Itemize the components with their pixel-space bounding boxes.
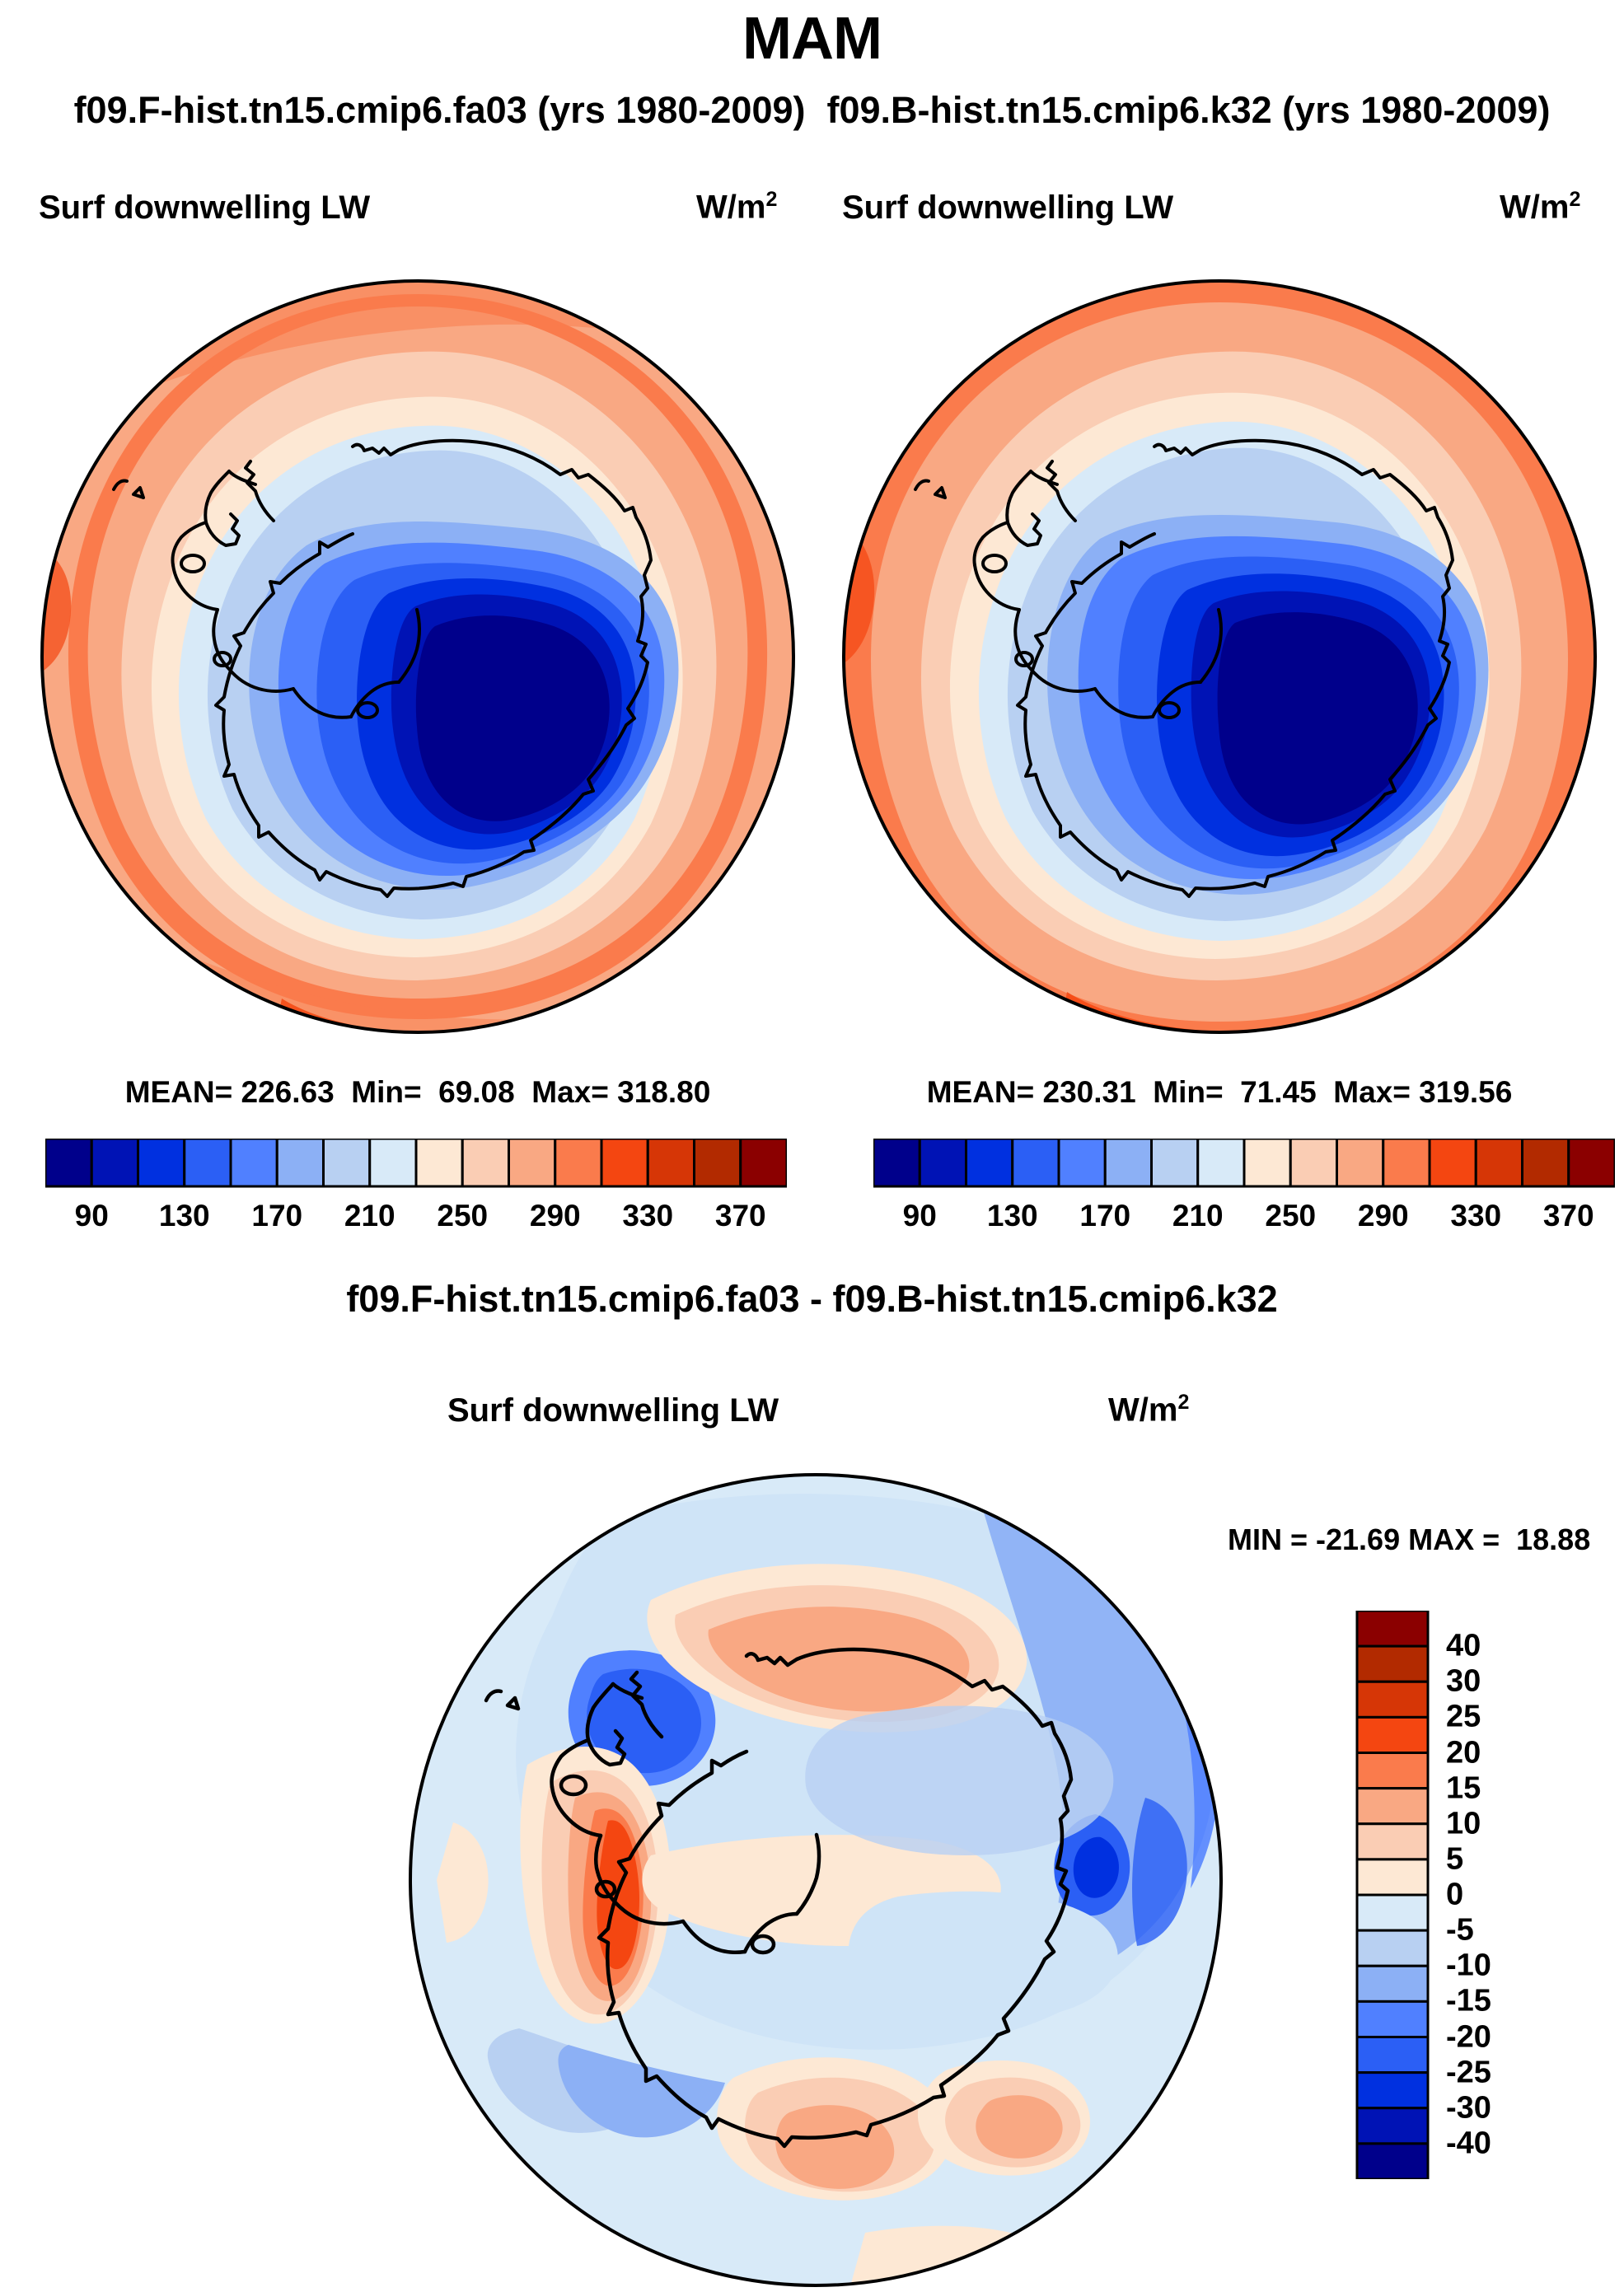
right-tick-0: 90 bbox=[903, 1199, 937, 1233]
left-tick-0: 90 bbox=[75, 1199, 109, 1233]
diff-colorbar-cells bbox=[1357, 1611, 1428, 2179]
diff-tick-14: -40 bbox=[1446, 2126, 1491, 2161]
right-polar-map bbox=[836, 274, 1603, 1040]
diff-tick-7: 0 bbox=[1446, 1878, 1463, 1913]
left-tick-7: 370 bbox=[715, 1199, 766, 1233]
left-tick-6: 330 bbox=[622, 1199, 673, 1233]
diff-tick-4: 15 bbox=[1446, 1770, 1481, 1806]
diff-panel-units: W/m2 bbox=[1108, 1391, 1189, 1429]
diff-tick-10: -15 bbox=[1446, 1984, 1491, 2019]
right-tick-3: 210 bbox=[1172, 1199, 1224, 1233]
left-tick-1: 130 bbox=[159, 1199, 210, 1233]
right-panel-variable-label: Surf downwelling LW bbox=[842, 189, 1173, 227]
right-tick-6: 330 bbox=[1450, 1199, 1501, 1233]
case-b-label: f09.B-hist.tn15.cmip6.k32 (yrs 1980-2009… bbox=[826, 89, 1550, 132]
left-units-exponent: 2 bbox=[765, 188, 777, 211]
diff-colorbar-ticklabels: 40 30 25 20 15 10 5 0 -5 -10 -15 -20 -25… bbox=[1446, 1611, 1578, 2179]
diff-tick-1: 30 bbox=[1446, 1664, 1481, 1700]
season-title: MAM bbox=[0, 5, 1624, 73]
left-tick-4: 250 bbox=[437, 1199, 488, 1233]
diff-tick-2: 25 bbox=[1446, 1700, 1481, 1735]
diff-tick-6: 5 bbox=[1446, 1841, 1463, 1877]
right-units-text: W/m bbox=[1500, 189, 1569, 225]
diff-minmax-line: MIN = -21.69 MAX = 18.88 bbox=[1228, 1523, 1590, 1557]
diff-units-exponent: 2 bbox=[1177, 1391, 1189, 1414]
left-tick-3: 210 bbox=[344, 1199, 395, 1233]
diff-colorbar bbox=[1355, 1611, 1430, 2179]
diff-tick-8: -5 bbox=[1446, 1913, 1474, 1948]
left-panel-variable-label: Surf downwelling LW bbox=[39, 189, 370, 227]
left-contour-fill bbox=[35, 274, 801, 1040]
right-tick-4: 250 bbox=[1265, 1199, 1316, 1233]
case-subtitle: f09.F-hist.tn15.cmip6.fa03 (yrs 1980-200… bbox=[0, 89, 1624, 132]
right-colorbar-ticklabels: 90 130 170 210 250 290 330 370 bbox=[873, 1199, 1615, 1240]
right-contour-fill bbox=[836, 274, 1603, 1040]
diff-tick-3: 20 bbox=[1446, 1735, 1481, 1770]
left-stats-line: MEAN= 226.63 Min= 69.08 Max= 318.80 bbox=[35, 1075, 801, 1110]
right-colorbar bbox=[873, 1139, 1615, 1188]
case-a-label: f09.F-hist.tn15.cmip6.fa03 (yrs 1980-200… bbox=[74, 89, 806, 132]
diff-tick-5: 10 bbox=[1446, 1806, 1481, 1841]
left-colorbar-ticklabels: 90 130 170 210 250 290 330 370 bbox=[45, 1199, 787, 1240]
right-tick-1: 130 bbox=[987, 1199, 1038, 1233]
left-units-text: W/m bbox=[696, 189, 765, 225]
right-tick-2: 170 bbox=[1079, 1199, 1130, 1233]
right-tick-7: 370 bbox=[1543, 1199, 1594, 1233]
diff-panel-variable-label: Surf downwelling LW bbox=[447, 1392, 779, 1429]
right-colorbar-cells bbox=[873, 1139, 1615, 1186]
diff-tick-11: -20 bbox=[1446, 2019, 1491, 2055]
difference-title: f09.F-hist.tn15.cmip6.fa03 - f09.B-hist.… bbox=[0, 1278, 1624, 1321]
diff-units-text: W/m bbox=[1108, 1392, 1177, 1428]
right-units-exponent: 2 bbox=[1569, 188, 1580, 211]
left-colorbar bbox=[45, 1139, 787, 1188]
left-panel-units: W/m2 bbox=[696, 188, 777, 226]
right-tick-5: 290 bbox=[1358, 1199, 1409, 1233]
diff-tick-13: -30 bbox=[1446, 2090, 1491, 2126]
right-panel-units: W/m2 bbox=[1500, 188, 1580, 226]
right-stats-line: MEAN= 230.31 Min= 71.45 Max= 319.56 bbox=[836, 1075, 1603, 1110]
diff-polar-map bbox=[404, 1468, 1228, 2292]
left-tick-2: 170 bbox=[251, 1199, 302, 1233]
left-colorbar-cells bbox=[45, 1139, 787, 1186]
diff-tick-9: -10 bbox=[1446, 1948, 1491, 1984]
diff-tick-12: -25 bbox=[1446, 2055, 1491, 2090]
left-tick-5: 290 bbox=[530, 1199, 581, 1233]
figure-canvas: MAM f09.F-hist.tn15.cmip6.fa03 (yrs 1980… bbox=[0, 0, 1624, 2218]
left-polar-map bbox=[35, 274, 801, 1040]
diff-tick-0: 40 bbox=[1446, 1629, 1481, 1664]
